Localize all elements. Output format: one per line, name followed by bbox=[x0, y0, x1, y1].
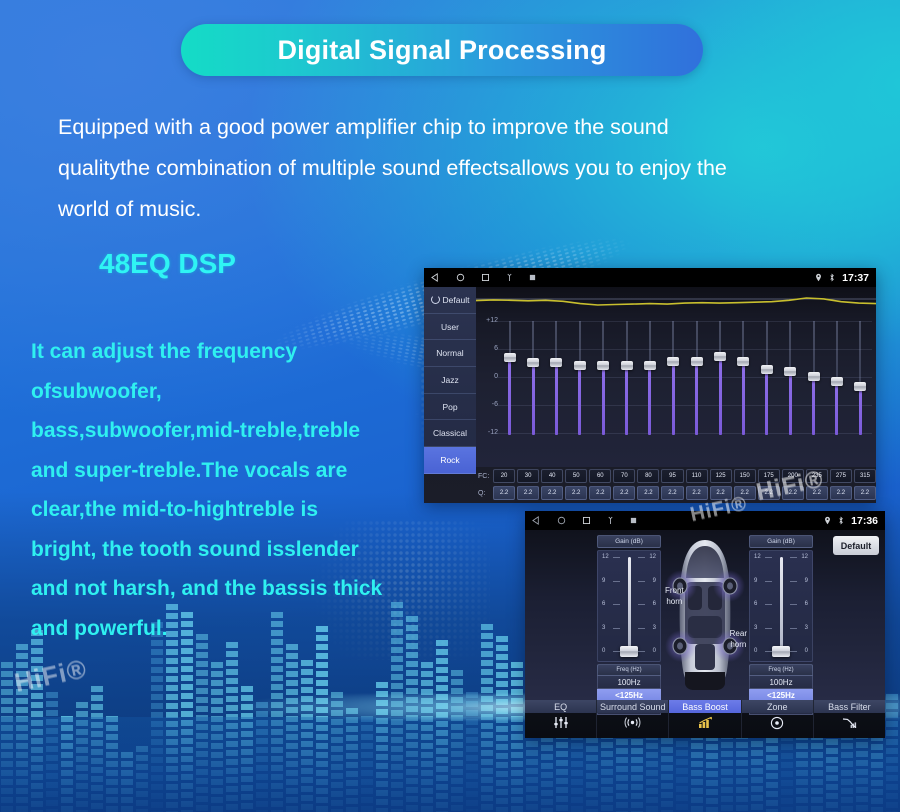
eq-q-cell[interactable]: 2.2 bbox=[637, 486, 659, 500]
rear-gain-panel[interactable]: Gain (dB) 121299663300 Freq (Hz) 100Hz <… bbox=[749, 535, 813, 715]
eq-fc-cell[interactable]: 235 bbox=[806, 469, 828, 483]
eq-slider-knob[interactable] bbox=[574, 361, 586, 370]
rear-freq-caption: Freq (Hz) bbox=[749, 664, 813, 676]
bluetooth-icon bbox=[829, 273, 835, 282]
eq-slider-knob[interactable] bbox=[504, 353, 516, 362]
eq-preset-pop[interactable]: Pop bbox=[424, 394, 476, 421]
eq-band-slider[interactable] bbox=[575, 321, 585, 435]
bass-tab-bar[interactable]: EQ Surround Sound Bass Boost ZoneBass Fi… bbox=[525, 700, 885, 738]
front-gain-slider[interactable]: 121299663300 bbox=[597, 550, 661, 662]
eq-q-cell[interactable]: 2.2 bbox=[686, 486, 708, 500]
eq-slider-fill bbox=[789, 371, 792, 435]
gain-tick-label: 9 bbox=[754, 578, 757, 584]
eq-q-cell[interactable]: 2.2 bbox=[589, 486, 611, 500]
eq-preset-normal[interactable]: Normal bbox=[424, 340, 476, 367]
eq-axis-label: +12 bbox=[486, 317, 498, 324]
eq-fc-cell[interactable]: 50 bbox=[565, 469, 587, 483]
feature-paragraph: It can adjust the frequency ofsubwoofer,… bbox=[31, 332, 431, 648]
gain-tick-line bbox=[765, 628, 772, 629]
gain-tick-label: 3 bbox=[754, 625, 757, 631]
eq-slider-knob[interactable] bbox=[737, 357, 749, 366]
front-gain-panel[interactable]: Gain (dB) 121299663300 Freq (Hz) 100Hz <… bbox=[597, 535, 661, 715]
q-row-label: Q: bbox=[478, 490, 491, 497]
page-root: Digital Signal Processing Equipped with … bbox=[0, 0, 900, 812]
feature-line: and super-treble.The vocals are bbox=[31, 451, 431, 491]
usb-icon bbox=[607, 516, 614, 525]
eq-fc-cell[interactable]: 95 bbox=[661, 469, 683, 483]
location-pin-icon bbox=[824, 516, 831, 525]
eq-fc-cell[interactable]: 80 bbox=[637, 469, 659, 483]
gain-tick-label: 6 bbox=[602, 601, 605, 607]
eq-preset-user[interactable]: User bbox=[424, 314, 476, 341]
eq-preset-label: Jazz bbox=[441, 375, 458, 385]
eq-q-cell[interactable]: 2.2 bbox=[493, 486, 515, 500]
bass-chart-icon bbox=[698, 716, 713, 734]
intro-line: qualitythe combination of multiple sound… bbox=[58, 148, 858, 189]
gain-tick-line bbox=[790, 604, 797, 605]
gain-tick-line bbox=[638, 651, 645, 652]
eq-band-slider[interactable] bbox=[505, 321, 515, 435]
eq-q-row: Q: 2.22.22.22.22.22.22.22.22.22.22.22.22… bbox=[476, 485, 876, 501]
rear-horn-label: Rear horn bbox=[730, 628, 747, 650]
eq-q-cell[interactable]: 2.2 bbox=[613, 486, 635, 500]
eq-axis-label: -12 bbox=[488, 429, 498, 436]
rear-gain-knob[interactable] bbox=[772, 646, 790, 657]
eq-fc-cell[interactable]: 125 bbox=[710, 469, 732, 483]
front-gain-rail bbox=[628, 557, 631, 651]
eq-band-slider[interactable] bbox=[528, 321, 538, 435]
gain-tick-line bbox=[613, 651, 620, 652]
eq-fc-cell[interactable]: 20 bbox=[493, 469, 515, 483]
eq-fc-cell[interactable]: 60 bbox=[589, 469, 611, 483]
rear-horn-line-2: horn bbox=[730, 639, 747, 650]
tab-label: Surround Sound bbox=[597, 700, 668, 713]
eq-preset-label: Pop bbox=[442, 402, 457, 412]
gain-tick-line bbox=[790, 557, 797, 558]
eq-band-slider[interactable] bbox=[622, 321, 632, 435]
gain-tick-label: 6 bbox=[754, 601, 757, 607]
eq-band-slider[interactable] bbox=[668, 321, 678, 435]
eq-band-slider[interactable] bbox=[551, 321, 561, 435]
eq-band-slider[interactable] bbox=[785, 321, 795, 435]
feature-line: It can adjust the frequency bbox=[31, 332, 431, 372]
car-top-view-graphic bbox=[663, 534, 747, 696]
eq-fc-row: FC: 203040506070809511012515017520023527… bbox=[476, 468, 876, 484]
eq-band-slider[interactable] bbox=[832, 321, 842, 435]
eq-slider-knob[interactable] bbox=[621, 361, 633, 370]
gain-tick-line bbox=[638, 557, 645, 558]
front-horn-line-1: Front bbox=[665, 585, 684, 596]
eq-y-axis: +1260-6-12 bbox=[478, 321, 498, 433]
front-gain-caption: Gain (dB) bbox=[597, 535, 661, 548]
gain-tick-line bbox=[765, 557, 772, 558]
eq-slider-fill bbox=[835, 381, 838, 435]
gain-tick-line bbox=[638, 604, 645, 605]
tab-zone[interactable]: Zone bbox=[742, 700, 814, 738]
fc-row-label: FC: bbox=[478, 473, 491, 480]
section-heading: 48EQ DSP bbox=[99, 248, 236, 280]
eq-slider-fill bbox=[555, 362, 558, 435]
eq-slider-knob[interactable] bbox=[597, 361, 609, 370]
front-horn-line-2: horn bbox=[665, 596, 684, 607]
recents-square-icon[interactable] bbox=[481, 273, 490, 282]
gain-tick-line bbox=[790, 651, 797, 652]
gain-tick-line bbox=[638, 581, 645, 582]
eq-slider-fill bbox=[765, 369, 768, 435]
eq-slider-fill bbox=[508, 357, 511, 435]
gain-tick-label: 0 bbox=[653, 648, 656, 654]
recents-square-icon[interactable] bbox=[582, 516, 591, 525]
home-circle-icon[interactable] bbox=[557, 516, 566, 525]
gain-tick-line bbox=[790, 581, 797, 582]
eq-preset-list[interactable]: DefaultUserNormalJazzPopClassicalRock bbox=[424, 287, 477, 467]
eq-preset-jazz[interactable]: Jazz bbox=[424, 367, 476, 394]
gain-tick-line bbox=[638, 628, 645, 629]
feature-line: ofsubwoofer, bbox=[31, 372, 431, 412]
eq-preset-label: Normal bbox=[436, 348, 463, 358]
eq-fc-cell[interactable]: 40 bbox=[541, 469, 563, 483]
gain-tick-line bbox=[790, 628, 797, 629]
gain-tick-label: 3 bbox=[653, 625, 656, 631]
eq-band-sliders[interactable] bbox=[498, 321, 872, 435]
tab-label: Bass Boost bbox=[669, 700, 740, 713]
feature-line: clear,the mid-to-hightreble is bbox=[31, 490, 431, 530]
default-button[interactable]: Default bbox=[833, 536, 879, 555]
usb-icon bbox=[506, 273, 513, 282]
eq-preset-classical[interactable]: Classical bbox=[424, 420, 476, 447]
gain-tick-label: 9 bbox=[653, 578, 656, 584]
eq-q-cell[interactable]: 2.2 bbox=[541, 486, 563, 500]
eq-preset-label: Classical bbox=[433, 428, 467, 438]
gain-tick-label: 12 bbox=[801, 554, 808, 560]
gain-tick-line bbox=[765, 604, 772, 605]
eq-slider-fill bbox=[812, 376, 815, 435]
eq-slider-fill bbox=[695, 361, 698, 435]
eq-q-cell[interactable]: 2.2 bbox=[517, 486, 539, 500]
eq-preset-rock[interactable]: Rock bbox=[424, 447, 476, 474]
eq-slider-fill bbox=[672, 361, 675, 435]
tab-label: Bass Filter bbox=[814, 700, 885, 713]
eq-fc-cell[interactable]: 30 bbox=[517, 469, 539, 483]
eq-slider-knob[interactable] bbox=[550, 358, 562, 367]
feature-line: bright, the tooth sound isslender bbox=[31, 530, 431, 570]
tab-eq[interactable]: EQ bbox=[525, 700, 597, 738]
eq-slider-knob[interactable] bbox=[831, 377, 843, 386]
gain-tick-label: 0 bbox=[805, 648, 808, 654]
gain-tick-label: 0 bbox=[754, 648, 757, 654]
gain-tick-label: 6 bbox=[653, 601, 656, 607]
gain-tick-label: 12 bbox=[754, 554, 761, 560]
gain-tick-label: 3 bbox=[805, 625, 808, 631]
device-screenshot-bass-boost: 17:36 Default bbox=[525, 511, 885, 738]
eq-slider-knob[interactable] bbox=[644, 361, 656, 370]
eq-slider-knob[interactable] bbox=[667, 357, 679, 366]
eq-band-slider[interactable] bbox=[715, 321, 725, 435]
rear-gain-caption: Gain (dB) bbox=[749, 535, 813, 548]
eq-body: DefaultUserNormalJazzPopClassicalRock +1… bbox=[424, 287, 876, 503]
eq-slider-fill bbox=[859, 386, 862, 435]
eq-slider-knob[interactable] bbox=[691, 357, 703, 366]
eq-slider-knob[interactable] bbox=[527, 358, 539, 367]
eq-band-slider[interactable] bbox=[855, 321, 865, 435]
eq-graph-area[interactable]: +1260-6-12 bbox=[476, 287, 876, 467]
front-gain-knob[interactable] bbox=[620, 646, 638, 657]
eq-band-slider[interactable] bbox=[692, 321, 702, 435]
refresh-icon bbox=[431, 295, 440, 304]
eq-q-cell[interactable]: 2.2 bbox=[758, 486, 780, 500]
eq-band-slider[interactable] bbox=[738, 321, 748, 435]
eq-slider-fill bbox=[625, 365, 628, 435]
eq-band-slider[interactable] bbox=[762, 321, 772, 435]
equalizer-sliders-icon bbox=[553, 716, 569, 734]
eq-fc-cell[interactable]: 150 bbox=[734, 469, 756, 483]
surround-waves-icon bbox=[624, 716, 641, 734]
intro-line: world of music. bbox=[58, 189, 858, 230]
bass-clock: 17:36 bbox=[851, 515, 878, 527]
bass-status-bar: 17:36 bbox=[525, 511, 885, 530]
eq-slider-fill bbox=[719, 356, 722, 435]
eq-preset-default[interactable]: Default bbox=[424, 287, 476, 314]
gain-tick-line bbox=[613, 604, 620, 605]
gain-tick-label: 12 bbox=[602, 554, 609, 560]
feature-line: and powerful. bbox=[31, 609, 431, 649]
rear-gain-slider[interactable]: 121299663300 bbox=[749, 550, 813, 662]
eq-preset-label: Default bbox=[443, 295, 470, 305]
gain-tick-line bbox=[765, 581, 772, 582]
gain-tick-line bbox=[613, 557, 620, 558]
eq-slider-knob[interactable] bbox=[808, 372, 820, 381]
front-freq-option-100[interactable]: 100Hz bbox=[597, 676, 661, 689]
eq-slider-knob[interactable] bbox=[784, 367, 796, 376]
eq-slider-knob[interactable] bbox=[714, 352, 726, 361]
gain-tick-label: 12 bbox=[649, 554, 656, 560]
gain-tick-label: 0 bbox=[602, 648, 605, 654]
gain-tick-line bbox=[613, 581, 620, 582]
gain-tick-line bbox=[613, 628, 620, 629]
eq-slider-fill bbox=[602, 365, 605, 435]
filter-curve-icon bbox=[842, 716, 857, 734]
eq-q-cell[interactable]: 2.2 bbox=[782, 486, 804, 500]
eq-q-cell[interactable]: 2.2 bbox=[830, 486, 852, 500]
page-title: Digital Signal Processing bbox=[277, 35, 606, 66]
gain-tick-label: 9 bbox=[602, 578, 605, 584]
gain-tick-label: 6 bbox=[805, 601, 808, 607]
eq-fc-cell[interactable]: 200 bbox=[782, 469, 804, 483]
home-circle-icon[interactable] bbox=[456, 273, 465, 282]
bluetooth-icon bbox=[838, 516, 844, 525]
tab-label: Zone bbox=[742, 700, 813, 713]
bass-body: Default bbox=[525, 530, 885, 700]
eq-band-slider[interactable] bbox=[809, 321, 819, 435]
gain-tick-label: 9 bbox=[805, 578, 808, 584]
eq-band-slider[interactable] bbox=[598, 321, 608, 435]
eq-q-cell[interactable]: 2.2 bbox=[661, 486, 683, 500]
eq-q-cell[interactable]: 2.2 bbox=[806, 486, 828, 500]
eq-response-curve bbox=[476, 287, 876, 321]
eq-slider-fill bbox=[578, 365, 581, 435]
eq-fc-cell[interactable]: 110 bbox=[686, 469, 708, 483]
tab-surround-sound[interactable]: Surround Sound bbox=[597, 700, 669, 738]
eq-slider-fill bbox=[742, 361, 745, 435]
eq-band-slider[interactable] bbox=[645, 321, 655, 435]
eq-preset-label: Rock bbox=[440, 455, 459, 465]
eq-q-cell[interactable]: 2.2 bbox=[854, 486, 876, 500]
eq-q-cell[interactable]: 2.2 bbox=[734, 486, 756, 500]
zone-target-icon bbox=[770, 716, 784, 735]
front-freq-caption: Freq (Hz) bbox=[597, 664, 661, 676]
eq-slider-fill bbox=[532, 362, 535, 435]
back-triangle-icon[interactable] bbox=[532, 516, 541, 525]
sdcard-icon bbox=[529, 274, 536, 281]
eq-clock: 17:37 bbox=[842, 272, 869, 284]
eq-slider-knob[interactable] bbox=[854, 382, 866, 391]
tab-label: EQ bbox=[525, 700, 596, 713]
sdcard-icon bbox=[630, 517, 637, 524]
eq-preset-label: User bbox=[441, 322, 459, 332]
eq-slider-fill bbox=[648, 365, 651, 435]
rear-gain-rail bbox=[780, 557, 783, 651]
eq-q-cell[interactable]: 2.2 bbox=[565, 486, 587, 500]
eq-fc-cell[interactable]: 175 bbox=[758, 469, 780, 483]
gain-tick-label: 3 bbox=[602, 625, 605, 631]
front-horn-label: Front horn bbox=[665, 585, 684, 607]
rear-horn-line-1: Rear bbox=[730, 628, 747, 639]
device-screenshot-eq: 17:37 DefaultUserNormalJazzPopClassicalR… bbox=[424, 268, 876, 503]
eq-q-cell[interactable]: 2.2 bbox=[710, 486, 732, 500]
eq-fc-cell[interactable]: 70 bbox=[613, 469, 635, 483]
intro-line: Equipped with a good power amplifier chi… bbox=[58, 107, 858, 148]
eq-status-bar: 17:37 bbox=[424, 268, 876, 287]
back-triangle-icon[interactable] bbox=[431, 273, 440, 282]
tab-bass-filter[interactable]: Bass Filter bbox=[814, 700, 885, 738]
eq-fc-cell[interactable]: 275 bbox=[830, 469, 852, 483]
intro-paragraph: Equipped with a good power amplifier chi… bbox=[58, 107, 858, 230]
rear-freq-option-100[interactable]: 100Hz bbox=[749, 676, 813, 689]
feature-line: bass,subwoofer,mid-treble,treble bbox=[31, 411, 431, 451]
eq-fc-cell[interactable]: 315 bbox=[854, 469, 876, 483]
feature-line: and not harsh, and the bassis thick bbox=[31, 569, 431, 609]
eq-slider-knob[interactable] bbox=[761, 365, 773, 374]
gain-tick-line bbox=[765, 651, 772, 652]
page-title-banner: Digital Signal Processing bbox=[181, 24, 703, 76]
tab-bass-boost[interactable]: Bass Boost bbox=[669, 700, 741, 738]
location-pin-icon bbox=[815, 273, 822, 282]
